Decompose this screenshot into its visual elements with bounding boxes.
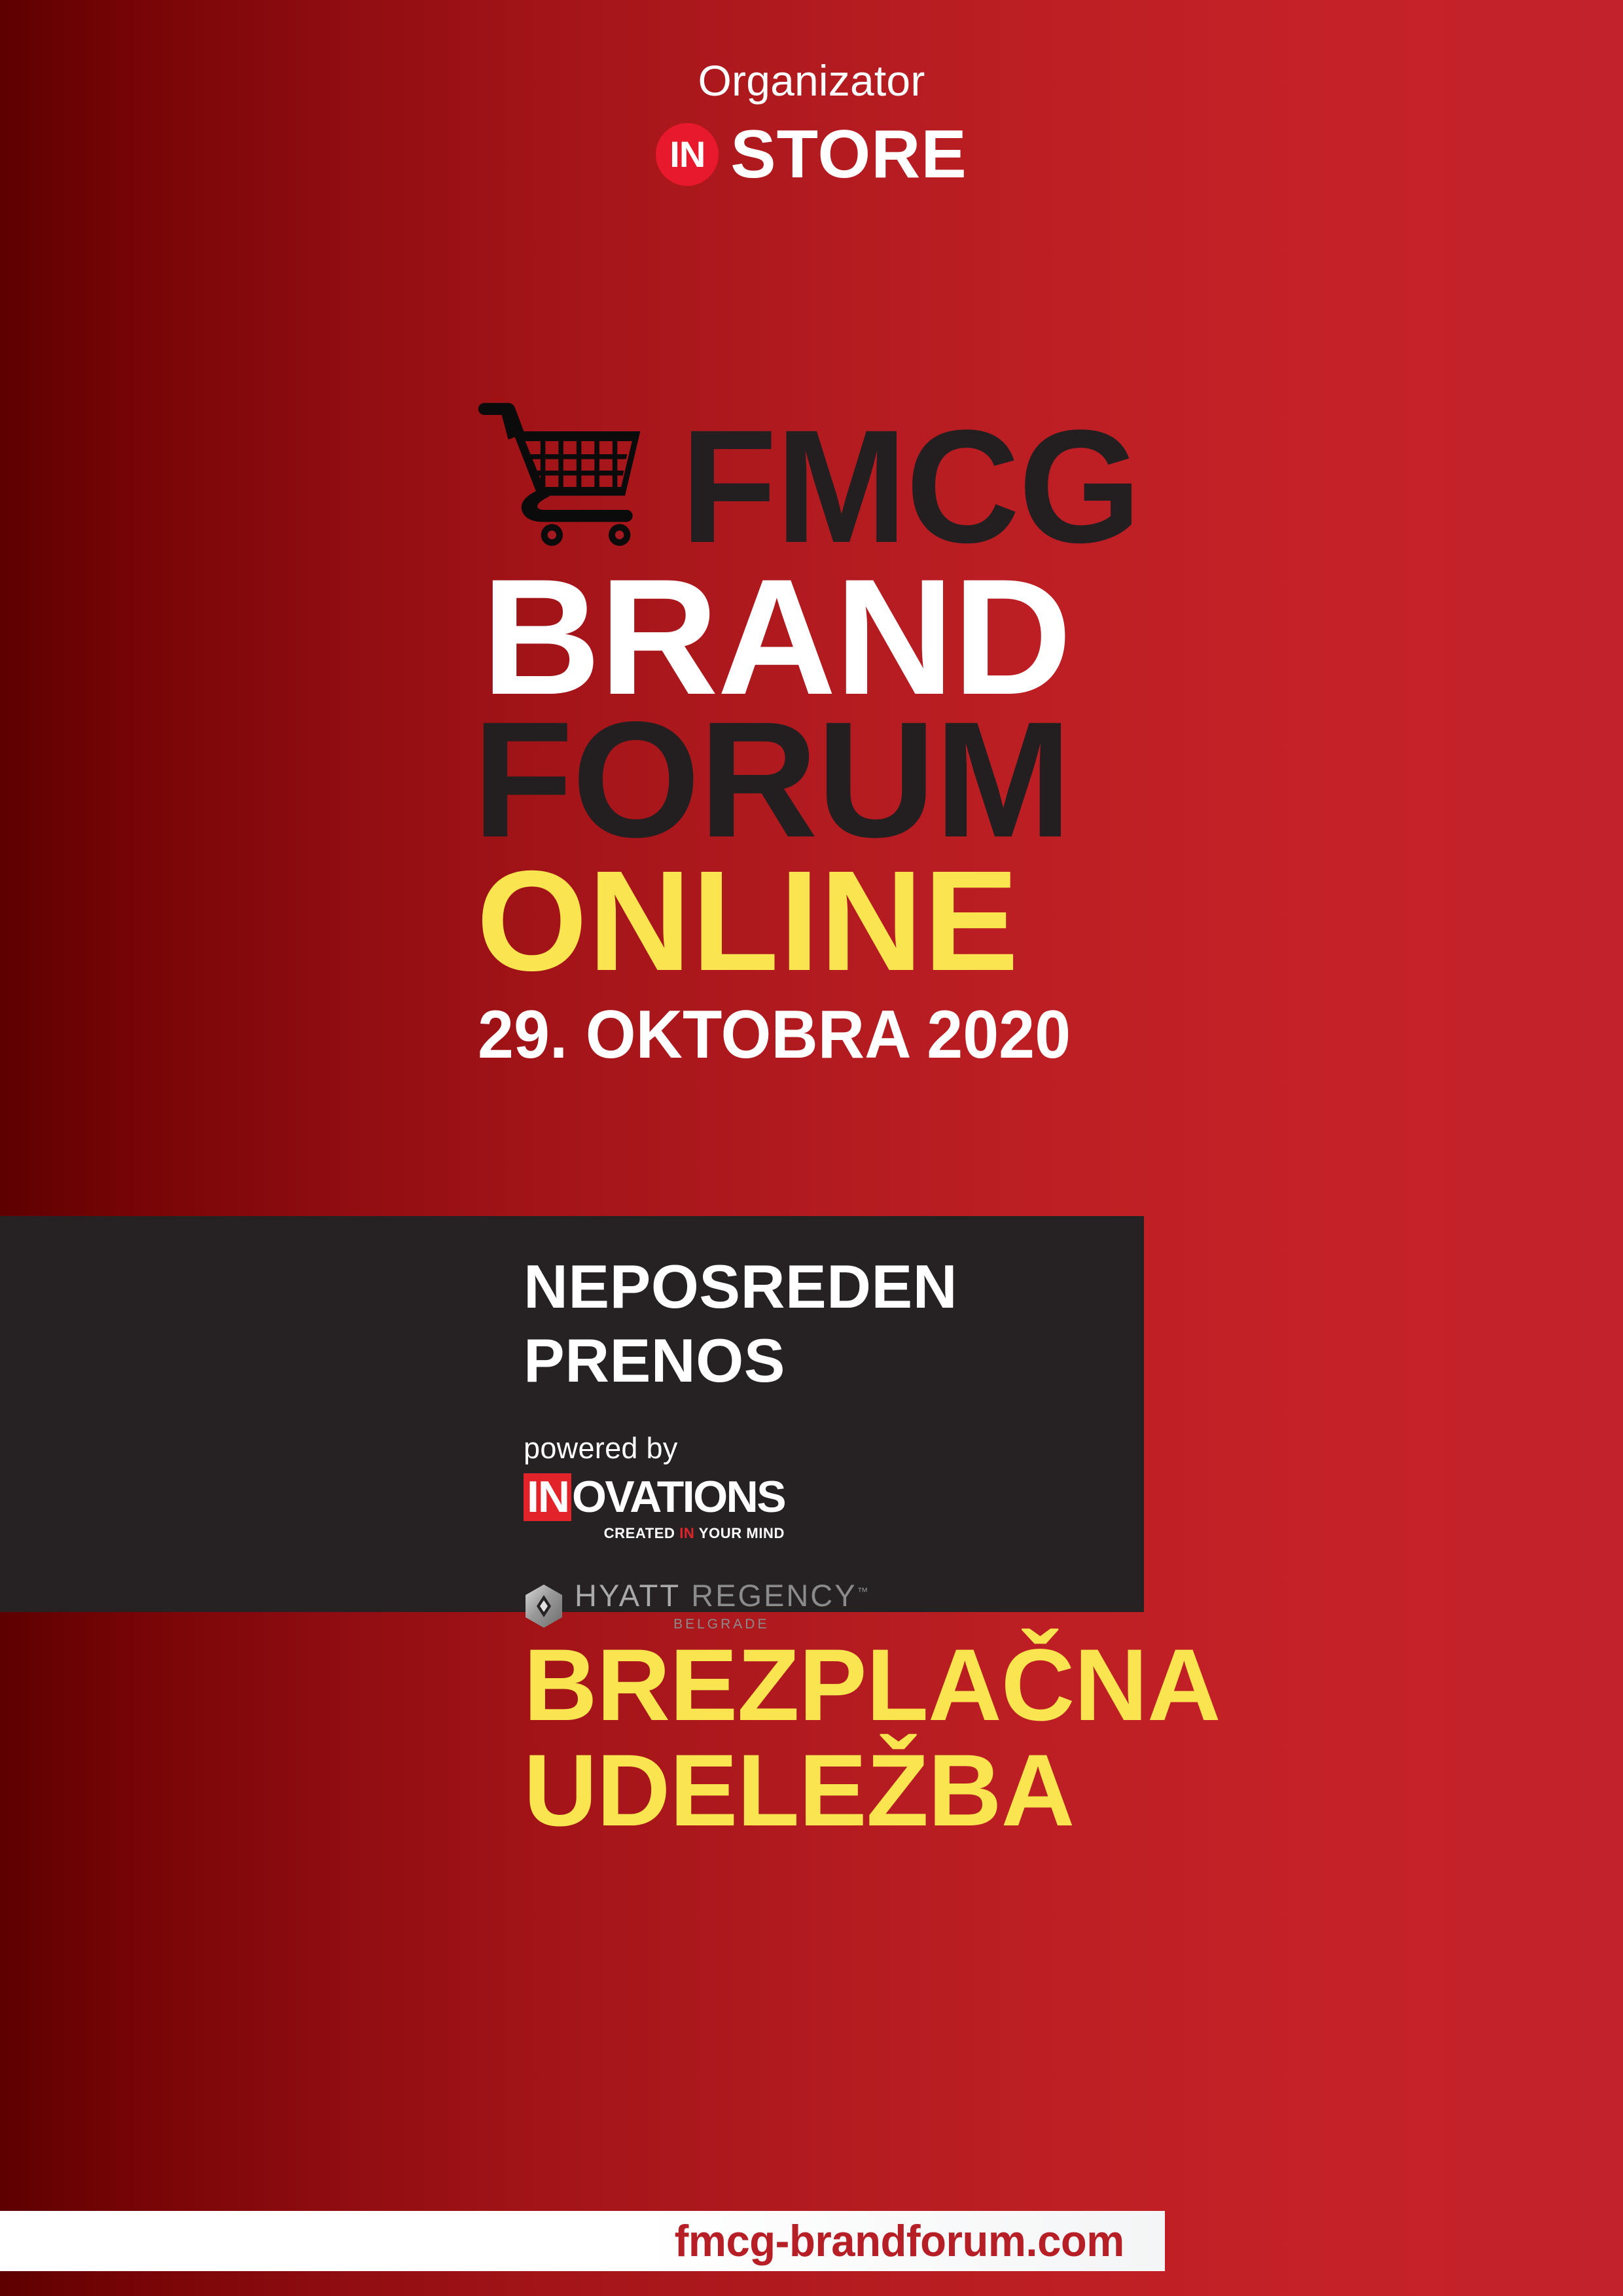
shopping-cart-icon xyxy=(458,389,661,552)
event-date: 29. OKTOBRA 2020 xyxy=(478,1001,1143,1069)
title-word-online: ONLINE xyxy=(476,853,1178,989)
hyatt-trademark-icon: ™ xyxy=(857,1585,868,1598)
hyatt-text-column: HYATT REGENCY™ BELGRADE xyxy=(575,1580,868,1632)
inovations-in-mark: IN xyxy=(524,1473,571,1521)
inovations-suffix: OVATIONS xyxy=(572,1475,785,1520)
title-word-fmcg: FMCG xyxy=(681,418,1140,556)
poster-canvas: Organizator IN STORE xyxy=(0,0,1623,2296)
hyatt-regency-logo: HYATT REGENCY™ BELGRADE xyxy=(524,1580,1118,1632)
live-stream-panel-content: NEPOSREDEN PRENOS powered by IN OVATIONS… xyxy=(524,1250,1118,1632)
stream-heading-line-2: PRENOS xyxy=(524,1324,1118,1398)
website-url[interactable]: fmcg-brandforum.com xyxy=(675,2219,1124,2263)
title-word-forum: FORUM xyxy=(473,704,1178,856)
powered-by-label: powered by xyxy=(524,1433,1118,1463)
hyatt-word-hyatt: HYATT xyxy=(575,1578,681,1613)
hyatt-word-regency: REGENCY xyxy=(691,1578,857,1613)
stream-heading: NEPOSREDEN PRENOS xyxy=(524,1250,1118,1398)
organizer-label: Organizator xyxy=(0,59,1623,102)
inovations-tagline: CREATED IN YOUR MIND xyxy=(524,1525,785,1542)
instore-logo: IN STORE xyxy=(656,120,967,188)
hyatt-wordmark: HYATT REGENCY™ xyxy=(575,1580,868,1611)
stream-heading-line-1: NEPOSREDEN xyxy=(524,1250,1118,1324)
free-attendance-block: BREZPLAČNA UDELEŽBA xyxy=(524,1633,1505,1843)
live-stream-panel: NEPOSREDEN PRENOS powered by IN OVATIONS… xyxy=(0,1216,1144,1612)
free-attendance-line-2: UDELEŽBA xyxy=(524,1738,1505,1844)
title-first-row: FMCG xyxy=(458,393,1178,556)
tagline-before: CREATED xyxy=(604,1525,675,1541)
in-badge-icon: IN xyxy=(656,123,719,186)
organizer-brand-word: STORE xyxy=(730,120,967,188)
free-attendance-line-1: BREZPLAČNA xyxy=(524,1633,1505,1738)
organizer-block: Organizator IN STORE xyxy=(0,59,1623,188)
title-lockup: FMCG BRAND FORUM ONLINE 29. OKTOBRA 2020 xyxy=(458,393,1178,1069)
hyatt-hexagon-diamond-icon xyxy=(524,1583,564,1629)
inovations-wordmark: IN OVATIONS xyxy=(524,1473,785,1521)
tagline-after: YOUR MIND xyxy=(699,1525,785,1541)
footer-band: fmcg-brandforum.com xyxy=(0,2211,1165,2271)
inovations-logo: IN OVATIONS CREATED IN YOUR MIND xyxy=(524,1473,785,1542)
tagline-highlight: IN xyxy=(679,1525,694,1541)
